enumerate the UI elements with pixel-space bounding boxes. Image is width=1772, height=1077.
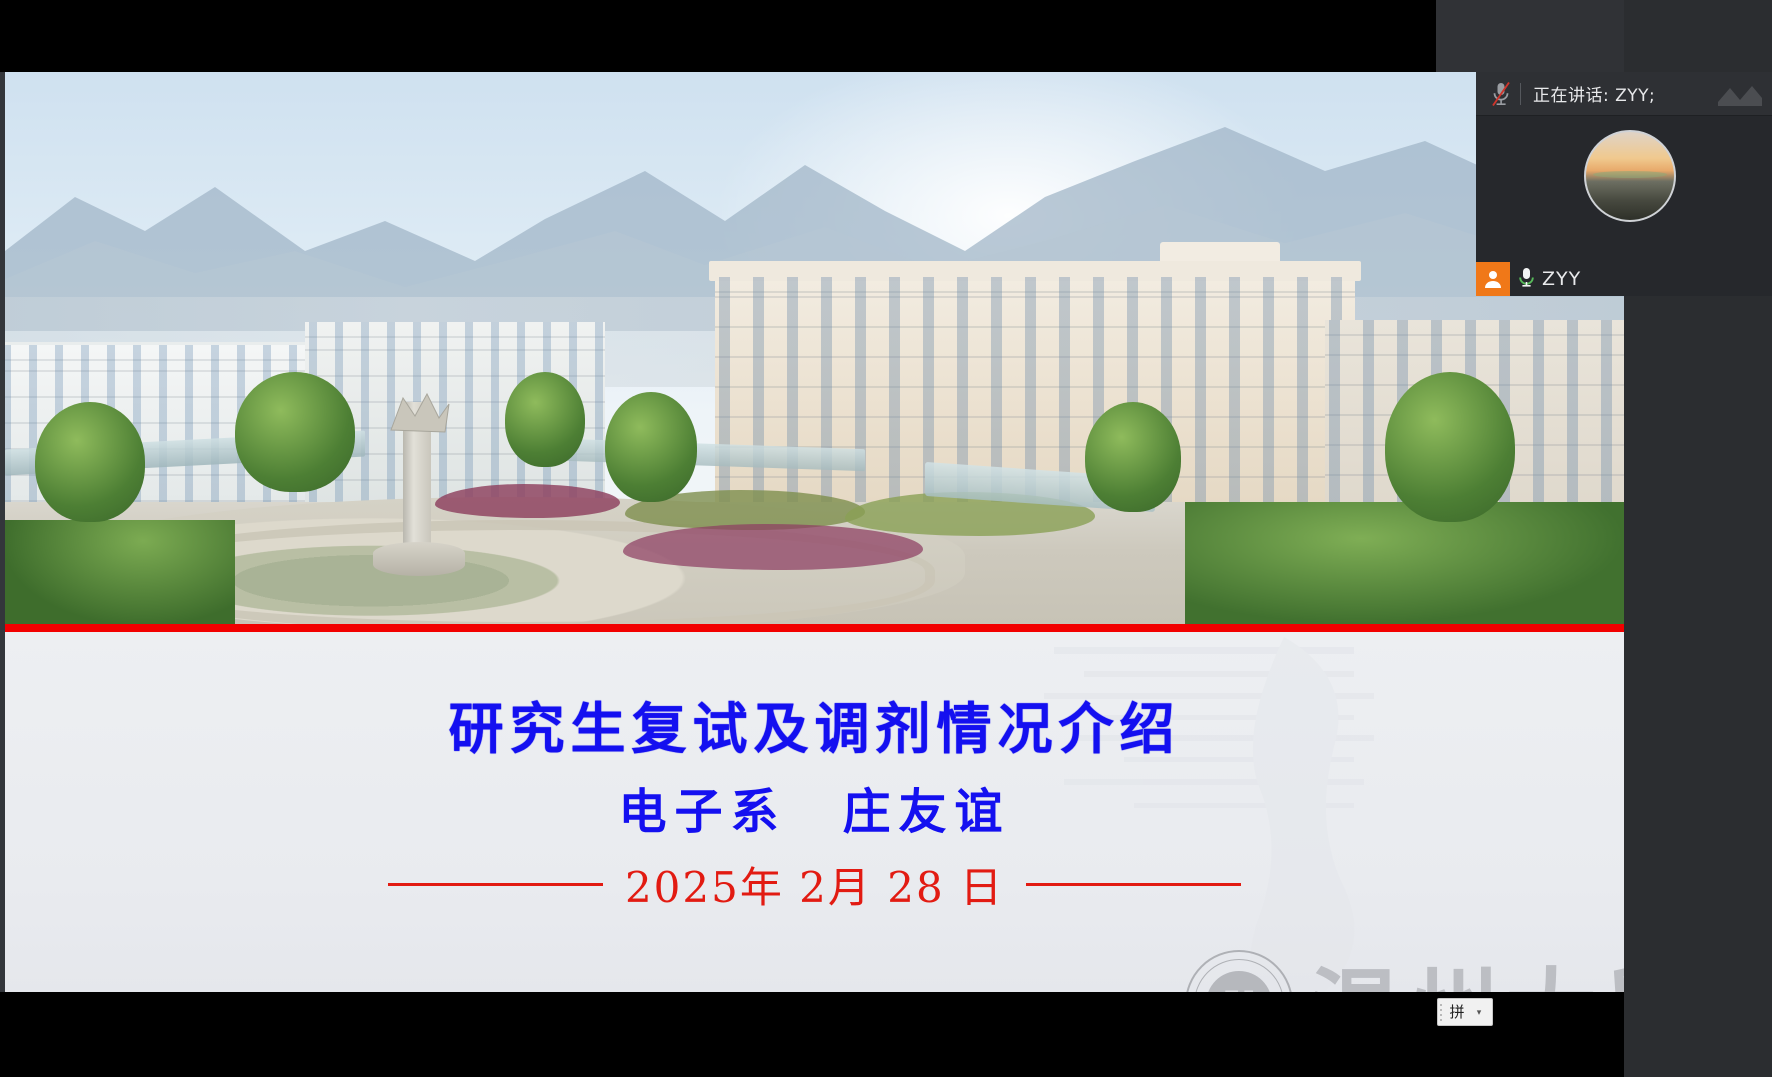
slide-subtitle: 电子系 庄友谊 (5, 772, 1624, 842)
video-panel[interactable]: 正在讲话: ZYY; (1476, 72, 1772, 296)
participant-info: ZYY (1510, 262, 1595, 296)
presentation-slide[interactable]: 研究生复试及调剂情况介绍 电子系 庄友谊 2025年 2月 28 日 U 温州大… (5, 72, 1624, 992)
slide-date: 2025年 2月 28 日 (625, 854, 1004, 915)
header-divider (1520, 83, 1521, 105)
microphone-icon (1518, 267, 1535, 292)
tree (35, 402, 145, 522)
university-logo: U 温州大學 WENZHOU UNIVERSITY (1185, 932, 1624, 992)
tree (605, 392, 697, 502)
collapse-chevron-icon[interactable] (1714, 82, 1766, 108)
campus-panorama-photo (5, 72, 1624, 624)
monument-sculpture (383, 390, 455, 434)
tree (505, 372, 585, 467)
tree (235, 372, 355, 492)
bottom-letterbox (0, 992, 1624, 1077)
hedge-flowerbed-2 (623, 524, 923, 570)
tree (1385, 372, 1515, 522)
speaking-status-label: 正在讲话: ZYY; (1533, 81, 1655, 106)
slide-title: 研究生复试及调剂情况介绍 (5, 684, 1624, 764)
trees-left (5, 520, 235, 624)
hedge-flowerbed (435, 484, 620, 518)
participant-name: ZYY (1542, 268, 1581, 290)
tree (1085, 402, 1181, 512)
avatar (1584, 130, 1676, 222)
microphone-muted-icon[interactable] (1484, 72, 1518, 116)
date-rule-right (1026, 883, 1241, 886)
monument-base (373, 542, 465, 576)
chevron-down-icon[interactable]: ▾ (1469, 1007, 1489, 1018)
university-name-cn: 温州大學 (1309, 938, 1624, 992)
slide-date-row: 2025年 2月 28 日 (5, 854, 1624, 915)
screen-root: 研究生复试及调剂情况介绍 电子系 庄友谊 2025年 2月 28 日 U 温州大… (0, 0, 1772, 1077)
date-rule-left (388, 883, 603, 886)
top-letterbox (0, 0, 1436, 72)
wenzhou-university-seal-icon: U (1185, 950, 1293, 992)
ime-drag-handle[interactable] (1438, 999, 1445, 1025)
video-tile[interactable]: ZYY (1476, 116, 1772, 296)
participant-nameplate: ZYY (1476, 262, 1595, 296)
ime-toolbar[interactable]: 拼 ▾ (1437, 998, 1493, 1026)
seal-ring (1194, 959, 1284, 992)
video-panel-header: 正在讲话: ZYY; (1476, 72, 1772, 116)
ime-mode-icon[interactable]: 拼 (1445, 1005, 1469, 1020)
trees-right (1185, 502, 1624, 624)
person-icon (1476, 262, 1510, 296)
